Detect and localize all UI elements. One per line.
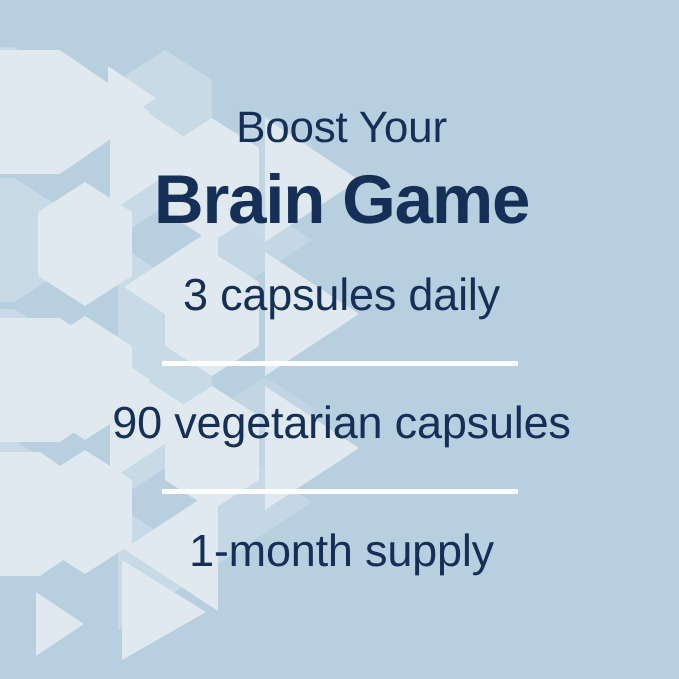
fact-supply: 1-month supply [2,528,679,573]
card-copy: Boost Your Brain Game 3 capsules daily 9… [0,0,679,679]
divider-2 [162,489,518,494]
fact-dosage: 3 capsules daily [2,272,679,317]
product-info-card: Boost Your Brain Game 3 capsules daily 9… [0,0,679,679]
eyebrow-text: Boost Your [2,106,679,150]
page-title: Brain Game [2,165,679,234]
divider-1 [162,361,518,366]
fact-count: 90 vegetarian capsules [2,400,679,445]
